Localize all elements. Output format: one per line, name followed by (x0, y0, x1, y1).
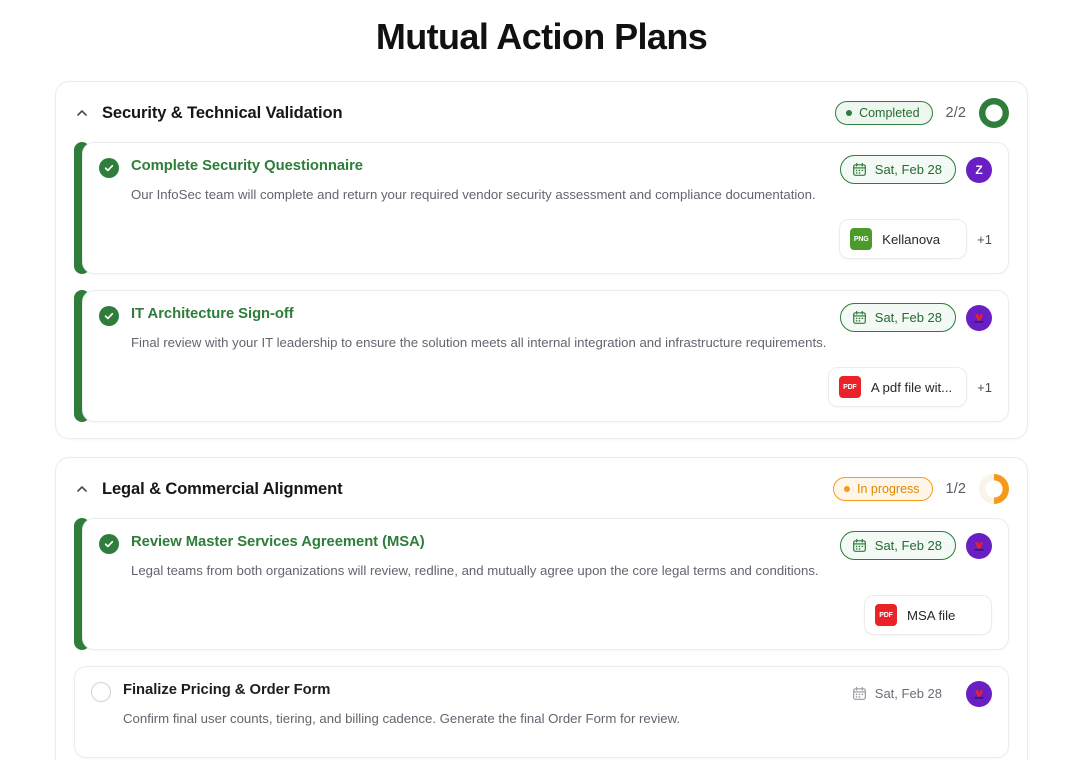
avatar[interactable]: Z (966, 157, 992, 183)
pdf-file-icon: PDF (839, 376, 861, 398)
task-card[interactable]: IT Architecture Sign-off Final review wi… (82, 290, 1009, 422)
attachment-name: MSA file (907, 608, 955, 623)
task-due-date-label: Sat, Feb 28 (875, 311, 942, 324)
section-title: Security & Technical Validation (102, 104, 823, 123)
attachment-chip[interactable]: PNG Kellanova (839, 219, 967, 259)
task-header-row: Complete Security Questionnaire Our Info… (99, 157, 992, 205)
task-card[interactable]: Finalize Pricing & Order Form Confirm fi… (74, 666, 1009, 758)
status-badge-label: Completed (859, 107, 919, 120)
task-card[interactable]: Review Master Services Agreement (MSA) L… (82, 518, 1009, 650)
task-due-date-pill[interactable]: Sat, Feb 28 (840, 679, 956, 708)
company-logo-icon (972, 539, 986, 553)
task-card[interactable]: Complete Security Questionnaire Our Info… (82, 142, 1009, 274)
section-card: Legal & Commercial Alignment In progress… (55, 457, 1028, 760)
calendar-icon (852, 538, 867, 553)
task-title: Complete Security Questionnaire (131, 157, 828, 176)
mutual-action-plans-page: Mutual Action Plans Security & Technical… (0, 0, 1083, 760)
attachments-row: PDF A pdf file wit... +1 (99, 367, 992, 407)
attachment-chip[interactable]: PDF A pdf file wit... (828, 367, 967, 407)
sections-list: Security & Technical Validation Complete… (0, 81, 1083, 760)
task-title: Finalize Pricing & Order Form (123, 681, 828, 700)
attachment-overflow-count[interactable]: +1 (977, 232, 992, 247)
company-logo-icon (972, 311, 986, 325)
section-header[interactable]: Legal & Commercial Alignment In progress… (56, 458, 1027, 518)
task-complete-check-icon[interactable] (99, 158, 119, 178)
task-body: Finalize Pricing & Order Form Confirm fi… (123, 681, 828, 729)
attachment-name: A pdf file wit... (871, 380, 952, 395)
task-header-row: IT Architecture Sign-off Final review wi… (99, 305, 992, 353)
section-card: Security & Technical Validation Complete… (55, 81, 1028, 439)
task-header-row: Finalize Pricing & Order Form Confirm fi… (91, 681, 992, 729)
status-badge: In progress (833, 477, 933, 502)
attachment-name: Kellanova (882, 232, 940, 247)
task-body: IT Architecture Sign-off Final review wi… (131, 305, 828, 353)
progress-ring (979, 98, 1009, 128)
chevron-up-icon[interactable] (74, 105, 90, 121)
avatar[interactable] (966, 681, 992, 707)
task-description: Confirm final user counts, tiering, and … (123, 709, 828, 729)
calendar-icon (852, 686, 867, 701)
pdf-file-icon: PDF (875, 604, 897, 626)
task-body: Complete Security Questionnaire Our Info… (131, 157, 828, 205)
task-wrapper: Finalize Pricing & Order Form Confirm fi… (74, 666, 1009, 758)
task-counter: 1/2 (946, 481, 966, 497)
attachment-overflow-count[interactable]: +1 (977, 380, 992, 395)
section-header[interactable]: Security & Technical Validation Complete… (56, 82, 1027, 142)
attachment-chip[interactable]: PDF MSA file (864, 595, 992, 635)
task-due-date-label: Sat, Feb 28 (875, 539, 942, 552)
task-complete-check-icon[interactable] (99, 306, 119, 326)
task-due-date-pill[interactable]: Sat, Feb 28 (840, 155, 956, 184)
avatar[interactable] (966, 305, 992, 331)
section-title: Legal & Commercial Alignment (102, 480, 821, 499)
task-title: Review Master Services Agreement (MSA) (131, 533, 828, 552)
progress-ring (979, 474, 1009, 504)
task-due-date-label: Sat, Feb 28 (875, 687, 942, 700)
company-logo-icon (972, 687, 986, 701)
task-due-date-pill[interactable]: Sat, Feb 28 (840, 303, 956, 332)
task-complete-check-icon[interactable] (99, 534, 119, 554)
task-incomplete-circle-icon[interactable] (91, 682, 111, 702)
task-header-row: Review Master Services Agreement (MSA) L… (99, 533, 992, 581)
attachments-row: PNG Kellanova +1 (99, 219, 992, 259)
task-body: Review Master Services Agreement (MSA) L… (131, 533, 828, 581)
task-due-date-pill[interactable]: Sat, Feb 28 (840, 531, 956, 560)
status-badge-label: In progress (857, 483, 920, 496)
task-meta: Sat, Feb 28 (840, 679, 992, 708)
task-wrapper: IT Architecture Sign-off Final review wi… (74, 290, 1009, 422)
chevron-up-icon[interactable] (74, 481, 90, 497)
status-badge: Completed (835, 101, 932, 126)
page-title: Mutual Action Plans (0, 0, 1083, 81)
task-wrapper: Review Master Services Agreement (MSA) L… (74, 518, 1009, 650)
calendar-icon (852, 310, 867, 325)
task-meta: Sat, Feb 28 Z (840, 155, 992, 184)
task-description: Our InfoSec team will complete and retur… (131, 185, 828, 205)
task-title: IT Architecture Sign-off (131, 305, 828, 324)
task-counter: 2/2 (946, 105, 966, 121)
attachments-row: PDF MSA file (99, 595, 992, 635)
calendar-icon (852, 162, 867, 177)
png-file-icon: PNG (850, 228, 872, 250)
status-dot-icon (844, 486, 850, 492)
status-dot-icon (846, 110, 852, 116)
section-status-group: Completed 2/2 (835, 98, 1009, 128)
task-meta: Sat, Feb 28 (840, 303, 992, 332)
task-meta: Sat, Feb 28 (840, 531, 992, 560)
task-wrapper: Complete Security Questionnaire Our Info… (74, 142, 1009, 274)
task-description: Legal teams from both organizations will… (131, 561, 828, 581)
section-status-group: In progress 1/2 (833, 474, 1009, 504)
avatar[interactable] (966, 533, 992, 559)
task-due-date-label: Sat, Feb 28 (875, 163, 942, 176)
task-description: Final review with your IT leadership to … (131, 333, 828, 353)
